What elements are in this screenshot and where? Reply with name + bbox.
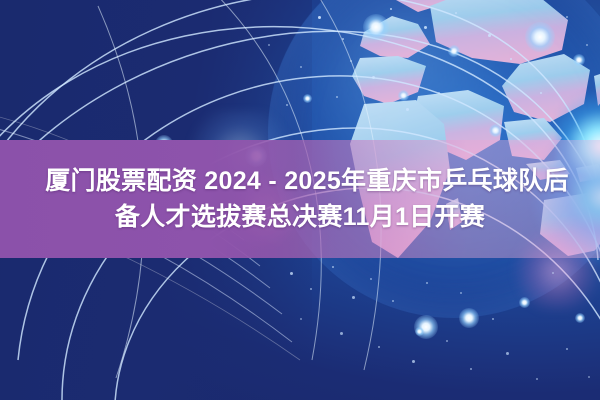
caption-text-block: 厦门股票配资 2024 - 2025年重庆市乒乓球队后 备人才选拔赛总决赛11月… [0,140,600,258]
star-dust [566,348,568,350]
star-dust [392,300,394,302]
star-dust [470,368,472,370]
star-dust [340,332,343,335]
star-dust [318,16,321,19]
star-dust [552,272,554,274]
star-dust [310,288,312,290]
star-dust [438,92,440,94]
star-dust [588,376,590,378]
star-dust [332,266,334,268]
star-dust [300,66,302,68]
star-dust [268,44,270,46]
star-dust [300,318,302,320]
caption-line-1: 厦门股票配资 2024 - 2025年重庆市乒乓球队后 [31,164,569,198]
star-dust [350,60,352,62]
star-dust [446,340,448,342]
star-dust [566,16,568,18]
banner-image: 厦门股票配资 2024 - 2025年重庆市乒乓球队后 备人才选拔赛总决赛11月… [0,0,600,400]
star-dust [352,296,355,299]
star-dust [510,58,512,60]
star-dust [390,8,392,10]
star-dust [370,278,372,280]
star-dust [406,108,409,111]
star-dust [336,96,338,98]
star-dust [378,346,380,348]
star-dust [286,104,288,106]
star-dust [488,34,491,37]
star-dust [586,44,588,46]
star-dust [492,318,494,320]
star-dust [455,12,457,14]
star-dust [536,378,538,380]
star-dust [290,272,293,275]
star-dust [426,282,428,284]
star-dust [424,26,427,29]
star-dust [506,352,509,355]
star-dust [412,360,415,363]
star-dust [342,38,344,40]
star-dust [460,292,462,294]
star-dust [372,76,375,79]
caption-line-2: 备人才选拔赛总决赛11月1日开赛 [115,200,485,234]
star-dust [540,92,542,94]
